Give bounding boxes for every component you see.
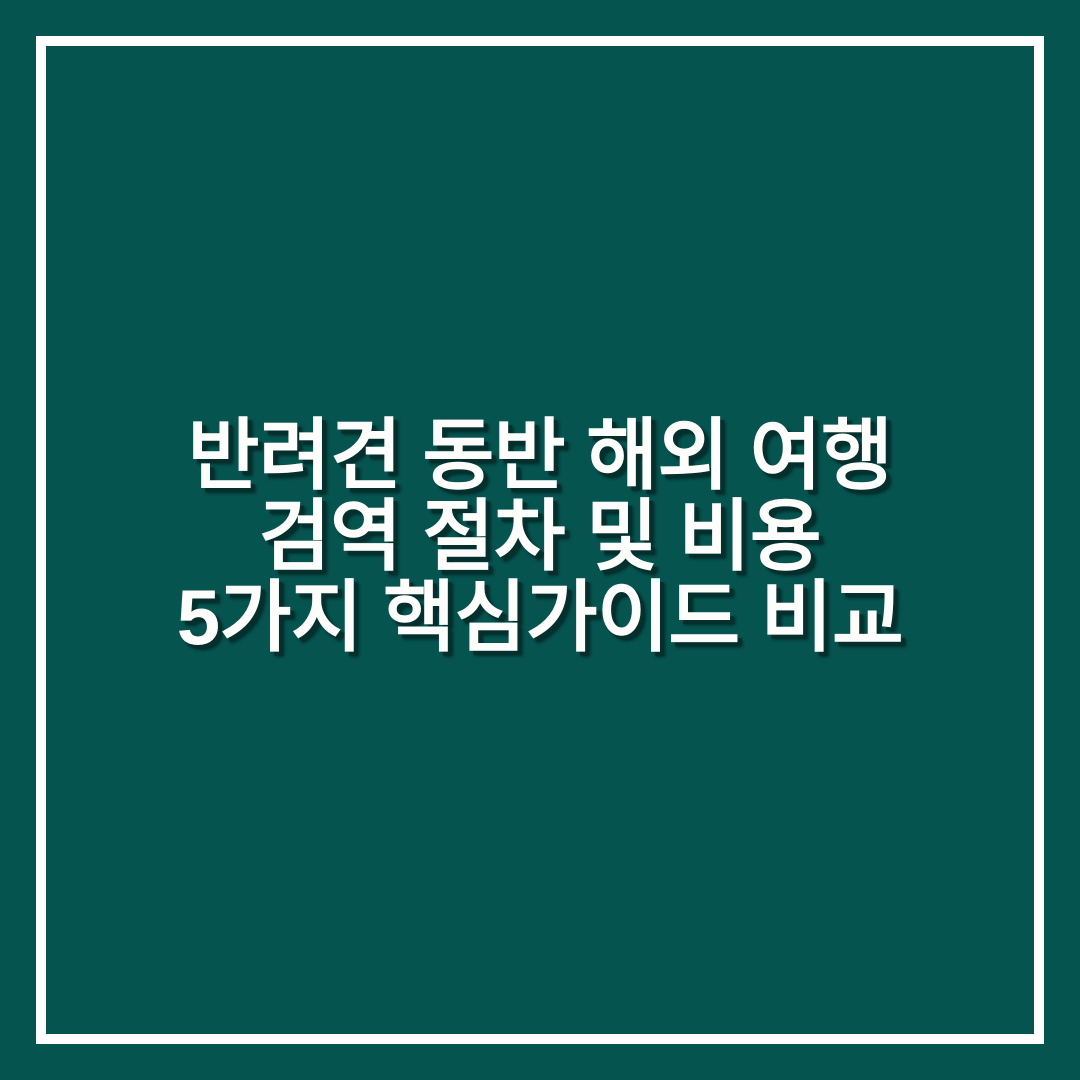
headline-block: 반려견 동반 해외 여행 검역 절차 및 비용 5가지 핵심가이드 비교 xyxy=(0,0,1080,1080)
thumbnail-card: 반려견 동반 해외 여행 검역 절차 및 비용 5가지 핵심가이드 비교 xyxy=(0,0,1080,1080)
headline-line-1: 반려견 동반 해외 여행 xyxy=(0,415,1080,496)
headline-line-2: 검역 절차 및 비용 xyxy=(0,496,1080,577)
headline-line-3: 5가지 핵심가이드 비교 xyxy=(0,577,1080,658)
